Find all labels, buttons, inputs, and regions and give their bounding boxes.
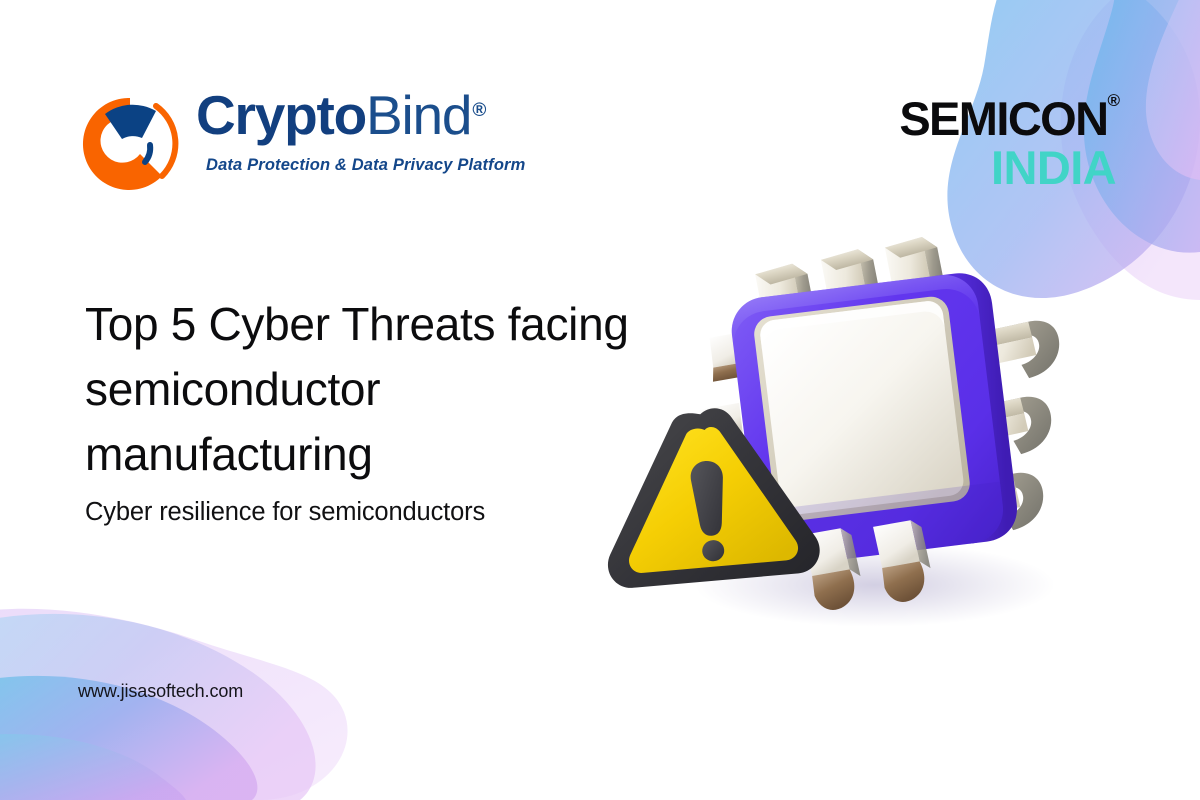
microchip-with-warning-triangle-icon bbox=[600, 235, 1120, 635]
page-title: Top 5 Cyber Threats facing semiconductor… bbox=[85, 292, 645, 487]
headline-block: Top 5 Cyber Threats facing semiconductor… bbox=[85, 292, 645, 529]
wordmark-crypto: Crypto bbox=[196, 84, 366, 146]
semicon-wordmark: SEMICON® bbox=[850, 96, 1120, 142]
website-url: www.jisasoftech.com bbox=[78, 681, 243, 702]
cryptobind-circular-mark-icon bbox=[78, 90, 188, 198]
brand-tagline: Data Protection & Data Privacy Platform bbox=[206, 156, 525, 175]
wordmark-bind: Bind bbox=[366, 84, 471, 146]
india-wordmark: INDIA bbox=[850, 144, 1120, 191]
cryptobind-logo: CryptoBind® Data Protection & Data Priva… bbox=[78, 90, 498, 198]
semicon-text: SEMICON bbox=[899, 92, 1107, 145]
registered-trademark-icon: ® bbox=[472, 100, 486, 121]
cryptobind-wordmark: CryptoBind® bbox=[196, 88, 485, 143]
registered-trademark-icon: ® bbox=[1107, 91, 1120, 110]
semicon-india-logo: SEMICON® INDIA bbox=[850, 96, 1120, 200]
poster-canvas: CryptoBind® Data Protection & Data Priva… bbox=[0, 0, 1200, 800]
page-subtitle: Cyber resilience for semiconductors bbox=[85, 496, 645, 529]
blob-cluster-bottom-left bbox=[0, 609, 348, 800]
